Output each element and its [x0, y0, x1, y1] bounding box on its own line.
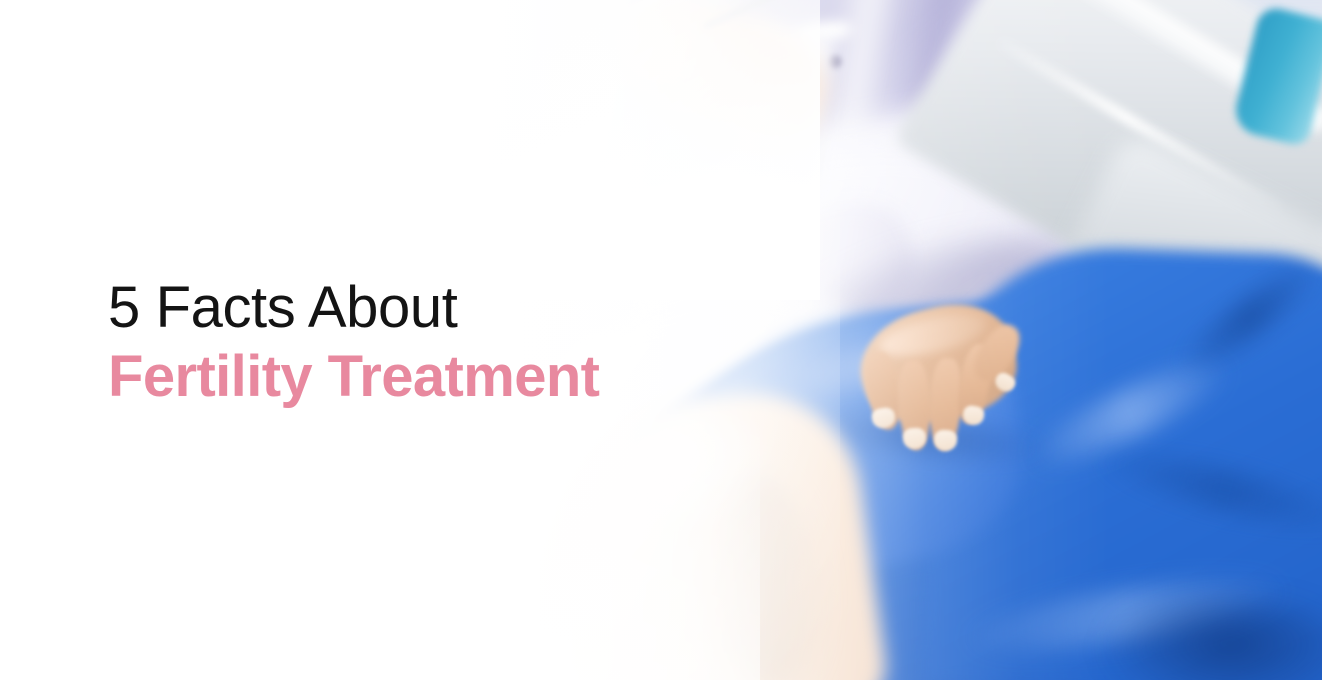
patient-knee-highlight	[620, 410, 770, 530]
headline-block: 5 Facts About Fertility Treatment	[108, 278, 599, 408]
headline-line-1: 5 Facts About	[108, 278, 599, 337]
fertility-treatment-banner: 5 Facts About Fertility Treatment	[0, 0, 1322, 680]
headline-line-2: Fertility Treatment	[108, 347, 599, 408]
